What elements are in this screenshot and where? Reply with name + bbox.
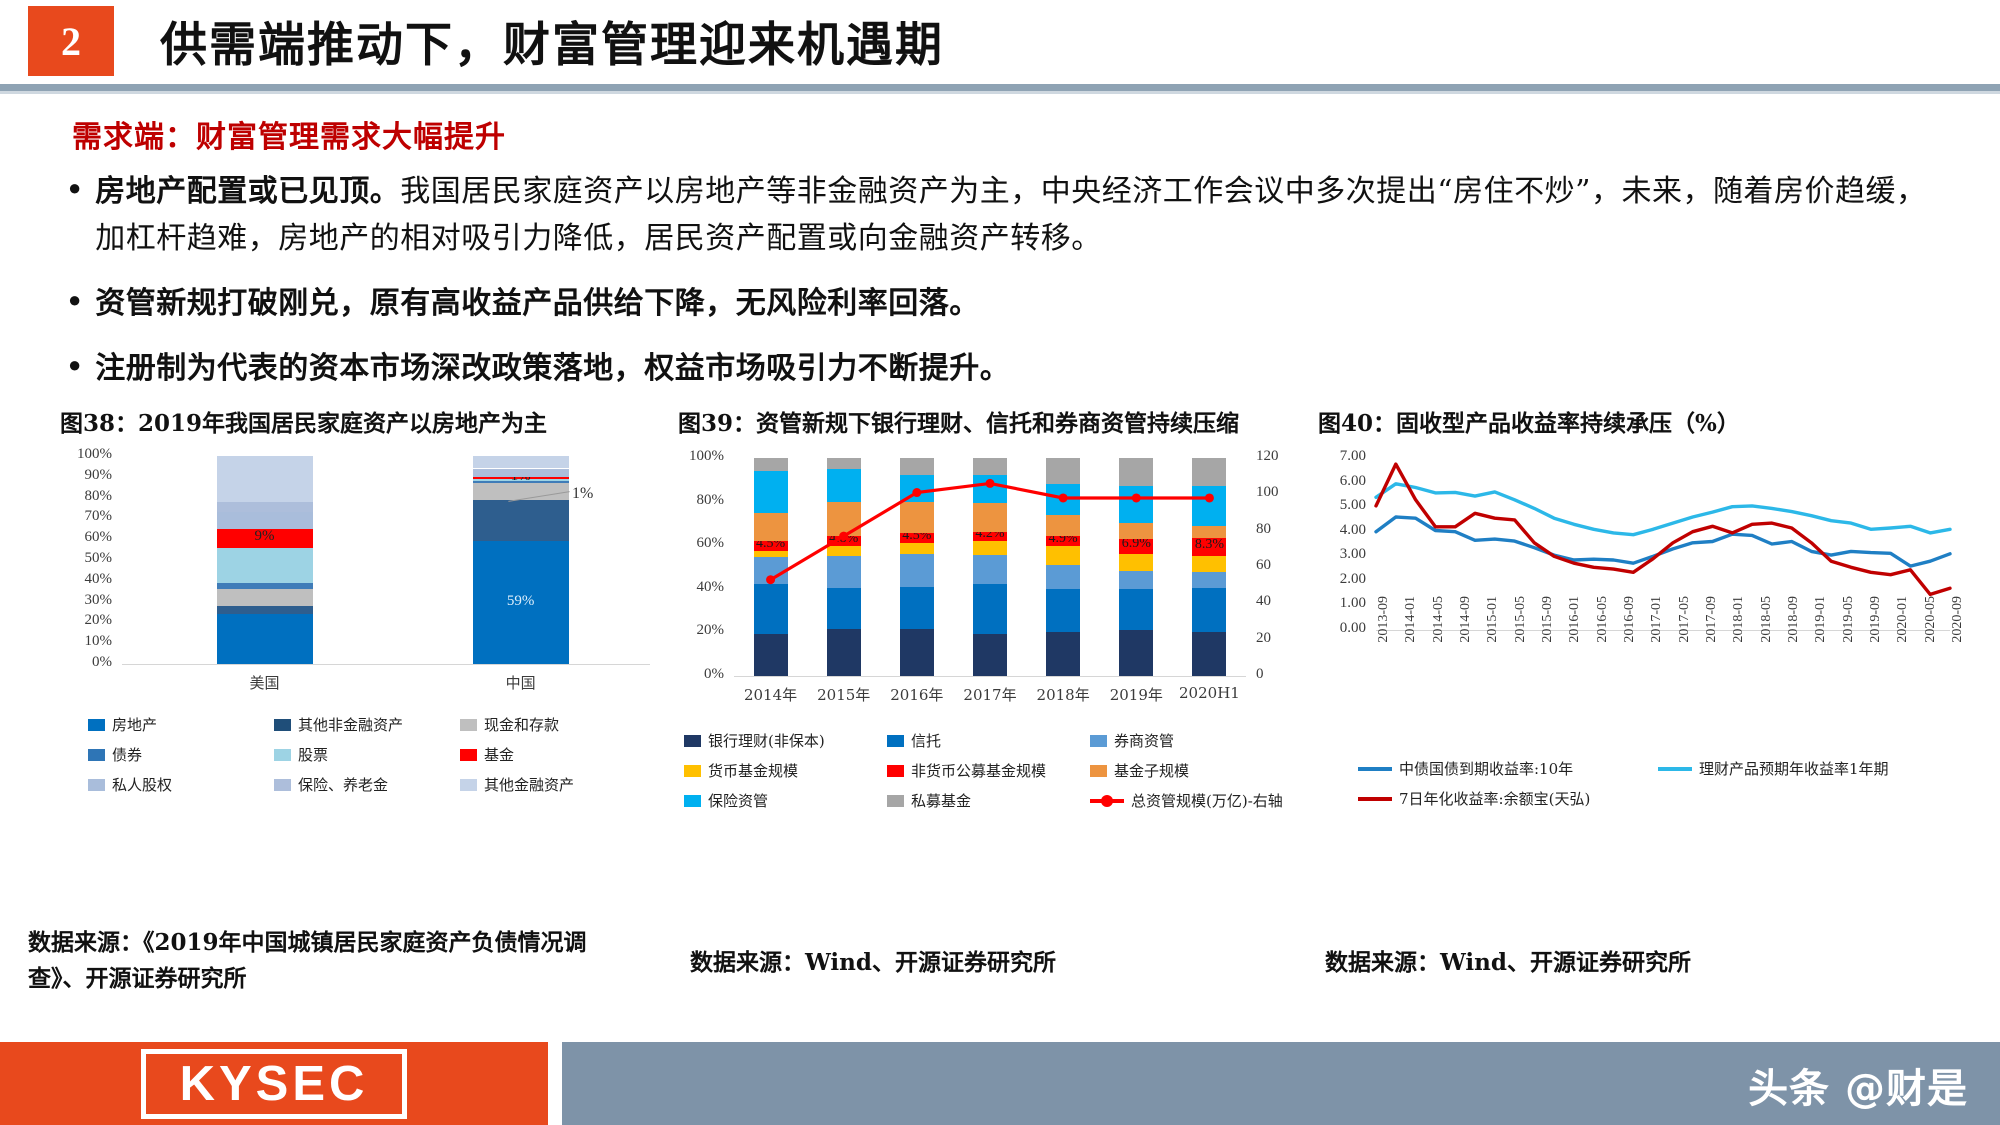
footer-logo-block: KYSEC xyxy=(0,1042,548,1125)
bar-segment xyxy=(217,606,313,614)
y-axis-tick: 90% xyxy=(60,467,112,484)
legend-color-swatch xyxy=(274,749,291,761)
x-axis-tick: 2019-01 xyxy=(1813,596,1829,676)
bullet-lead-text: 注册制为代表的资本市场深改政策落地，权益市场吸引力不断提升。 xyxy=(95,351,1010,386)
legend-color-swatch xyxy=(684,765,701,777)
kysec-logo-text: KYSEC xyxy=(141,1049,408,1119)
legend-color-swatch xyxy=(274,779,291,791)
x-axis-tick: 2017-05 xyxy=(1677,596,1693,676)
legend-color-swatch xyxy=(887,765,904,777)
legend-label: 保险、养老金 xyxy=(298,774,388,795)
bar-segment: 1% xyxy=(473,477,569,479)
y-axis-tick: 100% xyxy=(60,446,112,463)
bar-segment: 59% xyxy=(473,541,569,664)
bar-segment xyxy=(217,548,313,583)
legend-item: 货币基金规模 xyxy=(684,760,887,781)
legend-item: 债券 xyxy=(88,744,274,765)
figure-40-panel: 图40：固收型产品收益率持续承压（%） 0.001.002.003.004.00… xyxy=(1318,408,1958,818)
x-axis-tick: 2018-01 xyxy=(1731,596,1747,676)
bar-data-label: 59% xyxy=(473,593,569,610)
bullet-list: ● 房地产配置或已见顶。我国居民家庭资产以房地产等非金融资产为主，中央经济工作会… xyxy=(68,168,1948,410)
y-axis-tick: 0% xyxy=(60,654,112,671)
x-axis-tick: 2015-09 xyxy=(1540,596,1556,676)
y-axis-tick: 80% xyxy=(60,488,112,505)
page-title: 供需端推动下，财富管理迎来机遇期 xyxy=(160,6,944,75)
legend-color-swatch xyxy=(88,719,105,731)
legend-item: 信托 xyxy=(887,730,1090,751)
legend-label: 中债国债到期收益率:10年 xyxy=(1399,758,1573,779)
legend-item: 基金子规模 xyxy=(1090,760,1293,781)
x-axis-tick: 2018-09 xyxy=(1786,596,1802,676)
x-axis-tick: 2020-09 xyxy=(1950,596,1966,676)
bar-segment xyxy=(473,483,569,500)
x-axis-tick: 2016-05 xyxy=(1595,596,1611,676)
figure-39-legend: 银行理财(非保本)信托券商资管货币基金规模非货币公募基金规模基金子规模保险资管私… xyxy=(684,730,1294,820)
figure-38-panel: 图38：2019年我国居民家庭资产以房地产为主 0%10%20%30%40%50… xyxy=(60,408,660,804)
legend-label: 股票 xyxy=(298,744,328,765)
legend-label: 总资管规模(万亿)-右轴 xyxy=(1131,790,1283,811)
legend-color-swatch xyxy=(887,735,904,747)
legend-item: 基金 xyxy=(460,744,646,765)
bar-segment xyxy=(217,583,313,589)
y-axis-tick: 10% xyxy=(60,633,112,650)
figure-39-source: 数据来源：Wind、开源证券研究所 xyxy=(690,945,1290,981)
legend-label: 私人股权 xyxy=(112,774,172,795)
stacked-bar: 9% xyxy=(217,456,313,664)
slide-header: 2 供需端推动下，财富管理迎来机遇期 xyxy=(0,0,2000,86)
legend-label: 信托 xyxy=(911,730,941,751)
legend-item: 股票 xyxy=(274,744,460,765)
legend-color-swatch xyxy=(684,795,701,807)
x-axis-tick: 2014-09 xyxy=(1458,596,1474,676)
legend-item: 现金和存款 xyxy=(460,714,646,735)
legend-item: 理财产品预期年收益率1年期 xyxy=(1658,758,1958,779)
bar-segment xyxy=(473,469,569,475)
footer-band: 头条 @财是 xyxy=(562,1042,2000,1125)
legend-line-swatch xyxy=(1658,767,1692,771)
bar-segment xyxy=(217,456,313,502)
bullet-dot-icon: ● xyxy=(68,280,81,320)
legend-color-swatch xyxy=(887,795,904,807)
figure-38-legend: 房地产其他非金融资产现金和存款债券股票基金私人股权保险、养老金其他金融资产 xyxy=(88,714,648,804)
legend-item: 保险、养老金 xyxy=(274,774,460,795)
bar-segment xyxy=(217,614,313,664)
legend-label: 基金 xyxy=(484,744,514,765)
x-axis-tick: 2013-09 xyxy=(1376,596,1392,676)
x-axis-tick: 2018-05 xyxy=(1759,596,1775,676)
legend-item: 其他金融资产 xyxy=(460,774,646,795)
list-item: ● 注册制为代表的资本市场深改政策落地，权益市场吸引力不断提升。 xyxy=(68,345,1948,392)
legend-label: 现金和存款 xyxy=(484,714,559,735)
bar-segment xyxy=(473,475,569,477)
figure-40-title: 图40：固收型产品收益率持续承压（%） xyxy=(1318,408,1958,440)
y-axis-tick: 50% xyxy=(60,550,112,567)
figure-38-title: 图38：2019年我国居民家庭资产以房地产为主 xyxy=(60,408,660,440)
figure-40-chart: 0.001.002.003.004.005.006.007.002013-092… xyxy=(1318,448,1958,748)
x-axis-tick: 2017-09 xyxy=(1704,596,1720,676)
x-axis-tick: 2015-01 xyxy=(1485,596,1501,676)
legend-item: 私人股权 xyxy=(88,774,274,795)
legend-label: 房地产 xyxy=(112,714,157,735)
bar-segment xyxy=(217,589,313,606)
legend-item: 保险资管 xyxy=(684,790,887,811)
legend-label: 债券 xyxy=(112,744,142,765)
y-axis-tick: 30% xyxy=(60,592,112,609)
legend-line-swatch xyxy=(1090,799,1124,803)
x-axis-tick: 2019-09 xyxy=(1868,596,1884,676)
bullet-dot-icon: ● xyxy=(68,345,81,385)
legend-item: 银行理财(非保本) xyxy=(684,730,887,751)
legend-color-swatch xyxy=(88,779,105,791)
legend-color-swatch xyxy=(274,719,291,731)
callout-label: 1% xyxy=(572,485,593,503)
legend-item: 私募基金 xyxy=(887,790,1090,811)
legend-item: 中债国债到期收益率:10年 xyxy=(1358,758,1658,779)
bar-segment xyxy=(473,500,569,542)
legend-color-swatch xyxy=(460,719,477,731)
bar-segment: 9% xyxy=(217,529,313,548)
list-item: ● 资管新规打破刚兑，原有高收益产品供给下降，无风险利率回落。 xyxy=(68,280,1948,327)
legend-item: 房地产 xyxy=(88,714,274,735)
legend-item: 非货币公募基金规模 xyxy=(887,760,1090,781)
watermark-brand: 头条 @财是 xyxy=(1748,1056,1968,1114)
bullet-lead-text: 房地产配置或已见顶。 xyxy=(95,174,400,209)
bar-data-label: 9% xyxy=(217,528,313,545)
section-number-badge: 2 xyxy=(28,6,114,76)
legend-color-swatch xyxy=(684,735,701,747)
legend-item: 7日年化收益率:余额宝(天弘) xyxy=(1358,788,1778,809)
legend-item: 总资管规模(万亿)-右轴 xyxy=(1090,790,1293,811)
x-axis-tick: 2019-05 xyxy=(1841,596,1857,676)
legend-label: 理财产品预期年收益率1年期 xyxy=(1699,758,1889,779)
x-axis-tick: 2017-01 xyxy=(1649,596,1665,676)
x-axis-tick: 2015-05 xyxy=(1513,596,1529,676)
x-axis-tick: 中国 xyxy=(461,672,581,693)
figure-39-title: 图39：资管新规下银行理财、信托和券商资管持续压缩 xyxy=(678,408,1296,440)
section-subheading: 需求端：财富管理需求大幅提升 xyxy=(72,112,506,156)
x-axis-tick: 2016-09 xyxy=(1622,596,1638,676)
y-axis-tick: 70% xyxy=(60,508,112,525)
legend-label: 私募基金 xyxy=(911,790,971,811)
header-divider xyxy=(0,84,2000,91)
figure-40-legend: 中债国债到期收益率:10年理财产品预期年收益率1年期7日年化收益率:余额宝(天弘… xyxy=(1358,758,1978,818)
legend-color-swatch xyxy=(460,749,477,761)
legend-label: 其他金融资产 xyxy=(484,774,574,795)
legend-color-swatch xyxy=(1090,735,1107,747)
legend-label: 券商资管 xyxy=(1114,730,1174,751)
bar-segment xyxy=(217,502,313,512)
legend-item: 券商资管 xyxy=(1090,730,1293,751)
legend-label: 基金子规模 xyxy=(1114,760,1189,781)
figure-38-chart: 0%10%20%30%40%50%60%70%80%90%100%9%美国59%… xyxy=(60,448,660,698)
x-axis-tick: 2014-01 xyxy=(1403,596,1419,676)
y-axis-tick: 40% xyxy=(60,571,112,588)
legend-label: 非货币公募基金规模 xyxy=(911,760,1046,781)
bullet-dot-icon: ● xyxy=(68,168,81,208)
x-axis-line xyxy=(122,664,650,665)
legend-label: 其他非金融资产 xyxy=(298,714,403,735)
bar-segment xyxy=(217,512,313,529)
x-axis-tick: 2016-01 xyxy=(1567,596,1583,676)
slide-footer: KYSEC 头条 @财是 xyxy=(0,1042,2000,1125)
legend-line-swatch xyxy=(1358,797,1392,801)
x-axis-tick: 2020-05 xyxy=(1923,596,1939,676)
y-axis-tick: 20% xyxy=(60,612,112,629)
legend-label: 银行理财(非保本) xyxy=(708,730,825,751)
legend-color-swatch xyxy=(460,779,477,791)
legend-item: 其他非金融资产 xyxy=(274,714,460,735)
bar-segment xyxy=(473,456,569,468)
stacked-bar: 59%1% xyxy=(473,456,569,664)
header-divider-light xyxy=(0,91,2000,94)
bullet-lead-text: 资管新规打破刚兑，原有高收益产品供给下降，无风险利率回落。 xyxy=(95,286,980,321)
figure-40-source: 数据来源：Wind、开源证券研究所 xyxy=(1325,945,1945,981)
y-axis-tick: 60% xyxy=(60,529,112,546)
total-aum-line-series xyxy=(678,448,1296,716)
legend-color-swatch xyxy=(1090,765,1107,777)
x-axis-tick: 2020-01 xyxy=(1895,596,1911,676)
legend-label: 保险资管 xyxy=(708,790,768,811)
figure-38-source: 数据来源：《2019年中国城镇居民家庭资产负债情况调查》、开源证券研究所 xyxy=(28,925,638,997)
legend-color-swatch xyxy=(88,749,105,761)
list-item: ● 房地产配置或已见顶。我国居民家庭资产以房地产等非金融资产为主，中央经济工作会… xyxy=(68,168,1948,262)
figure-39-panel: 图39：资管新规下银行理财、信托和券商资管持续压缩 0%20%40%60%80%… xyxy=(678,408,1296,820)
figure-39-chart: 0%20%40%60%80%100%0204060801001204.5%201… xyxy=(678,448,1296,716)
x-axis-tick: 美国 xyxy=(205,672,325,693)
kysec-logo: KYSEC xyxy=(0,1042,548,1125)
legend-line-swatch xyxy=(1358,767,1392,771)
x-axis-tick: 2014-05 xyxy=(1431,596,1447,676)
legend-label: 7日年化收益率:余额宝(天弘) xyxy=(1399,788,1590,809)
legend-label: 货币基金规模 xyxy=(708,760,798,781)
